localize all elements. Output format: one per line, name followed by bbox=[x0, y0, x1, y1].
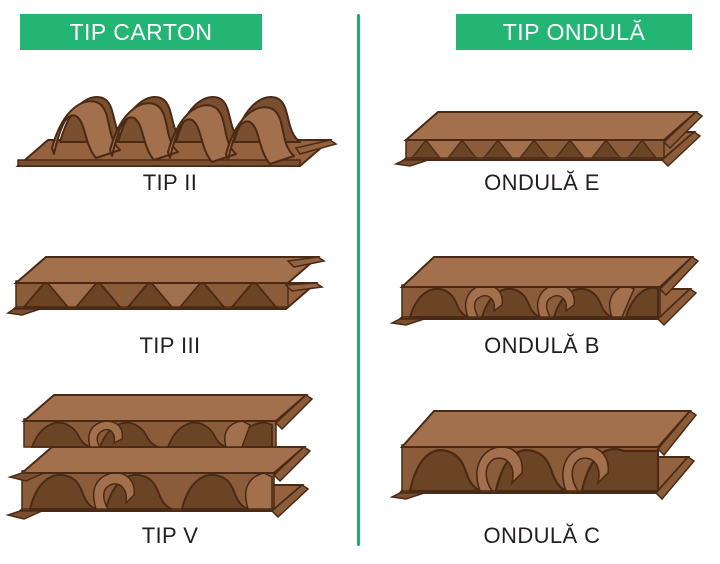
b-flute-board-icon bbox=[372, 225, 712, 335]
c-flute-board-icon bbox=[372, 385, 712, 515]
caption-ondula-c: ONDULĂ C bbox=[372, 523, 712, 549]
double-wall-corrugated-board-icon bbox=[0, 385, 340, 525]
cell-ondula-c: ONDULĂ C bbox=[372, 385, 712, 560]
cell-tip-v: TIP V bbox=[0, 385, 340, 560]
infographic-canvas: TIP CARTON bbox=[0, 0, 720, 564]
caption-tip-v: TIP V bbox=[0, 523, 340, 549]
cell-tip-ii: TIP II bbox=[0, 70, 340, 200]
cell-ondula-b: ONDULĂ B bbox=[372, 225, 712, 365]
header-tip-carton-wrap: TIP CARTON bbox=[0, 14, 340, 50]
corrugated-cardboard-infographic: { "headers": { "left": "TIP CARTON", "ri… bbox=[0, 0, 720, 564]
header-tip-carton-label: TIP CARTON bbox=[69, 19, 212, 46]
single-face-corrugated-board-icon bbox=[0, 70, 340, 175]
cell-tip-iii: TIP III bbox=[0, 225, 340, 365]
caption-tip-ii: TIP II bbox=[0, 170, 340, 196]
header-tip-ondula-wrap: TIP ONDULĂ bbox=[372, 14, 712, 50]
caption-ondula-b: ONDULĂ B bbox=[372, 333, 712, 359]
header-tip-ondula-label: TIP ONDULĂ bbox=[503, 19, 646, 46]
cell-ondula-e: ONDULĂ E bbox=[372, 70, 712, 200]
e-flute-board-icon bbox=[372, 70, 712, 175]
header-tip-carton: TIP CARTON bbox=[20, 14, 262, 50]
caption-tip-iii: TIP III bbox=[0, 333, 340, 359]
header-tip-ondula: TIP ONDULĂ bbox=[456, 14, 692, 50]
single-wall-corrugated-board-icon bbox=[0, 225, 340, 330]
column-divider bbox=[357, 14, 360, 546]
caption-ondula-e: ONDULĂ E bbox=[372, 170, 712, 196]
column-tip-carton: TIP CARTON bbox=[0, 0, 340, 564]
column-tip-ondula: TIP ONDULĂ bbox=[372, 0, 712, 564]
